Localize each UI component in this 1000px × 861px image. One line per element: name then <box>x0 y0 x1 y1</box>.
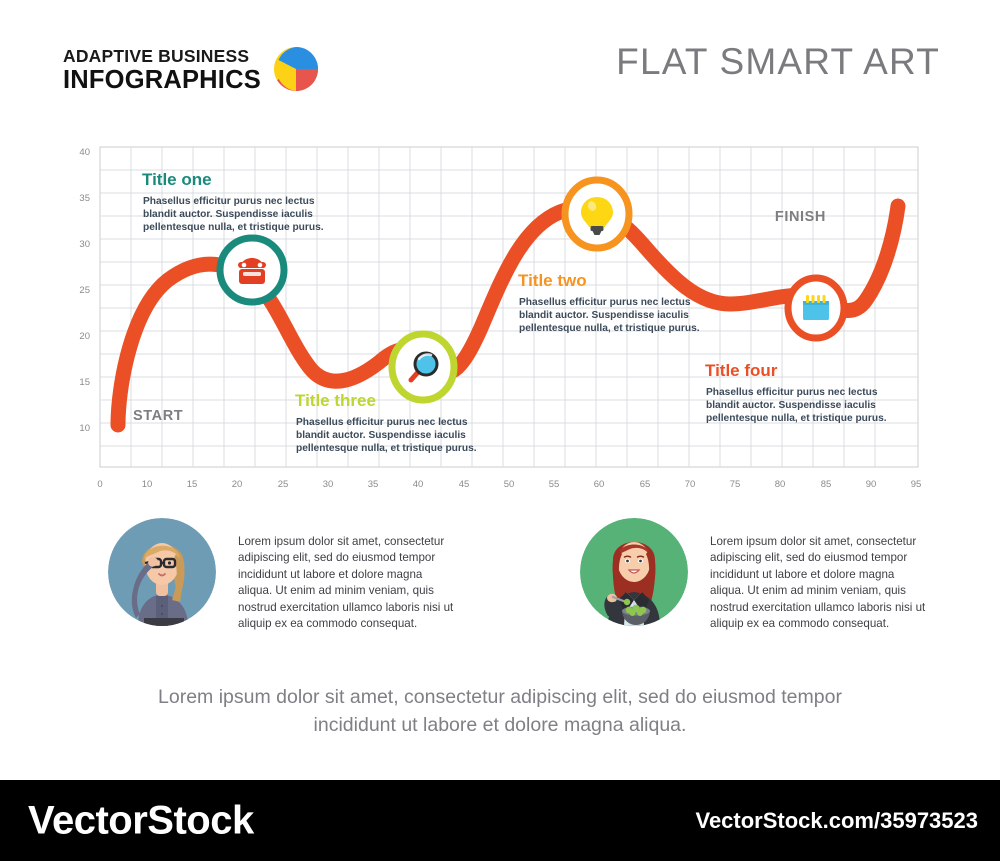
caption-line-2: incididunt ut labore et dolore magna ali… <box>0 711 1000 739</box>
x-axis-ticks: 0 10 15 20 25 30 35 40 45 50 55 60 65 70… <box>97 479 921 490</box>
x-tick: 90 <box>866 479 877 490</box>
x-tick: 60 <box>594 479 605 490</box>
businesswoman-salad-avatar <box>580 518 688 626</box>
y-tick: 35 <box>79 193 90 204</box>
milestone-four-title: Title four <box>705 361 778 380</box>
vectorstock-url: VectorStock.com/35973523 <box>695 808 978 834</box>
milestone-four-body: Phasellus efficitur purus nec lectus bla… <box>706 387 887 424</box>
x-tick: 70 <box>685 479 696 490</box>
milestone-three-body: Phasellus efficitur purus nec lectus bla… <box>296 417 477 454</box>
persons-section: Lorem ipsum dolor sit amet, consectetur … <box>0 518 1000 648</box>
person-one-text: Lorem ipsum dolor sit amet, consectetur … <box>238 534 456 633</box>
chart-svg: 40 35 30 25 20 15 10 0 10 15 20 25 30 35… <box>0 140 1000 500</box>
person-two-text: Lorem ipsum dolor sit amet, consectetur … <box>710 534 928 633</box>
x-tick: 80 <box>775 479 786 490</box>
y-axis-ticks: 40 35 30 25 20 15 10 <box>79 147 90 434</box>
milestone-two-body: Phasellus efficitur purus nec lectus bla… <box>519 297 700 334</box>
marker-magnifier[interactable] <box>392 334 454 400</box>
milestone-one-title: Title one <box>142 170 212 189</box>
y-tick: 10 <box>79 423 90 434</box>
milestone-three-title: Title three <box>295 391 376 410</box>
marker-telephone[interactable] <box>220 238 284 302</box>
caption-line-1: Lorem ipsum dolor sit amet, consectetur … <box>0 683 1000 711</box>
milestone-one-body: Phasellus efficitur purus nec lectus bla… <box>143 196 324 233</box>
x-tick: 65 <box>640 479 651 490</box>
y-tick: 20 <box>79 331 90 342</box>
finish-label: FINISH <box>775 209 826 225</box>
x-tick: 15 <box>187 479 198 490</box>
page-title: FLAT SMART ART <box>616 41 940 83</box>
x-tick: 85 <box>821 479 832 490</box>
x-tick: 45 <box>459 479 470 490</box>
x-tick: 25 <box>278 479 289 490</box>
vectorstock-logo: VectorStock <box>28 798 254 843</box>
start-label: START <box>133 408 183 424</box>
x-tick: 95 <box>911 479 922 490</box>
x-tick: 10 <box>142 479 153 490</box>
y-tick: 30 <box>79 239 90 250</box>
person-card-two: Lorem ipsum dolor sit amet, consectetur … <box>580 518 1000 633</box>
businesswoman-glasses-avatar <box>108 518 216 626</box>
infographic-page: ADAPTIVE BUSINESS INFOGRAPHICS FLAT SMAR… <box>0 0 1000 861</box>
x-tick: 30 <box>323 479 334 490</box>
x-tick: 50 <box>504 479 515 490</box>
x-tick: 20 <box>232 479 243 490</box>
marker-lightbulb[interactable] <box>565 180 629 248</box>
person-card-one: Lorem ipsum dolor sit amet, consectetur … <box>108 518 528 633</box>
brand-line-2: INFOGRAPHICS <box>63 67 261 93</box>
x-tick: 40 <box>413 479 424 490</box>
brand-text: ADAPTIVE BUSINESS INFOGRAPHICS <box>63 48 261 93</box>
pie-chart-logo-icon <box>273 46 319 97</box>
footer-caption: Lorem ipsum dolor sit amet, consectetur … <box>0 683 1000 740</box>
marker-calendar[interactable] <box>788 278 844 338</box>
y-tick: 40 <box>79 147 90 158</box>
x-tick: 35 <box>368 479 379 490</box>
y-tick: 25 <box>79 285 90 296</box>
milestone-two-title: Title two <box>518 271 587 290</box>
x-tick: 75 <box>730 479 741 490</box>
y-tick: 15 <box>79 377 90 388</box>
brand-lockup: ADAPTIVE BUSINESS INFOGRAPHICS <box>63 44 319 97</box>
page-header: ADAPTIVE BUSINESS INFOGRAPHICS FLAT SMAR… <box>0 0 1000 120</box>
brand-line-1: ADAPTIVE BUSINESS <box>63 48 261 66</box>
vectorstock-watermark-bar: VectorStock VectorStock.com/35973523 <box>0 780 1000 861</box>
x-tick: 0 <box>97 479 102 490</box>
journey-chart: 40 35 30 25 20 15 10 0 10 15 20 25 30 35… <box>0 140 1000 500</box>
x-tick: 55 <box>549 479 560 490</box>
